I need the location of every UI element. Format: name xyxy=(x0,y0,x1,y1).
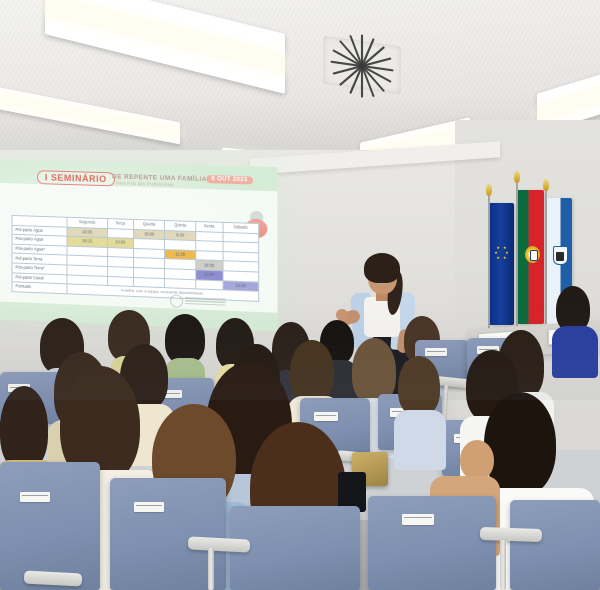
presenter-hair xyxy=(364,253,400,283)
event-date-badge: 6 OUT 2023 xyxy=(206,175,252,184)
municipal-crest-icon xyxy=(553,246,568,265)
flag-finial xyxy=(486,184,492,196)
projection-screen: I SEMINÁRIO DE REPENTE UMA FAMÍLIA Para … xyxy=(0,159,278,331)
flag-finial xyxy=(543,179,549,191)
flag-cloth xyxy=(518,190,544,324)
schedule-table: SegundaTerçaQuartaQuintaSextaSábado Pré-… xyxy=(12,215,260,302)
flag-finial xyxy=(514,171,520,183)
auditorium-photo: I SEMINÁRIO DE REPENTE UMA FAMÍLIA Para … xyxy=(0,0,600,590)
eu-stars-icon: ★ ★★ ★★ ★ xyxy=(490,203,514,325)
auditorium-seat xyxy=(0,462,100,590)
seat-armrest xyxy=(480,527,542,542)
footer-logo-icon xyxy=(170,293,227,308)
table-body: Pré-parto Água16:0016:009:30Pós-parto Ág… xyxy=(12,225,259,291)
auditorium-seat xyxy=(510,500,600,590)
flag-cloth: ★ ★★ ★★ ★ xyxy=(490,203,514,325)
slide-body: SegundaTerçaQuartaQuintaSextaSábado Pré-… xyxy=(0,183,278,313)
seat-leg xyxy=(500,540,506,590)
footer-row-label: Pontuais xyxy=(12,282,67,294)
portugal-coat-of-arms-icon xyxy=(525,246,540,263)
auditorium-seat xyxy=(368,496,496,590)
seat-leg xyxy=(208,548,214,590)
